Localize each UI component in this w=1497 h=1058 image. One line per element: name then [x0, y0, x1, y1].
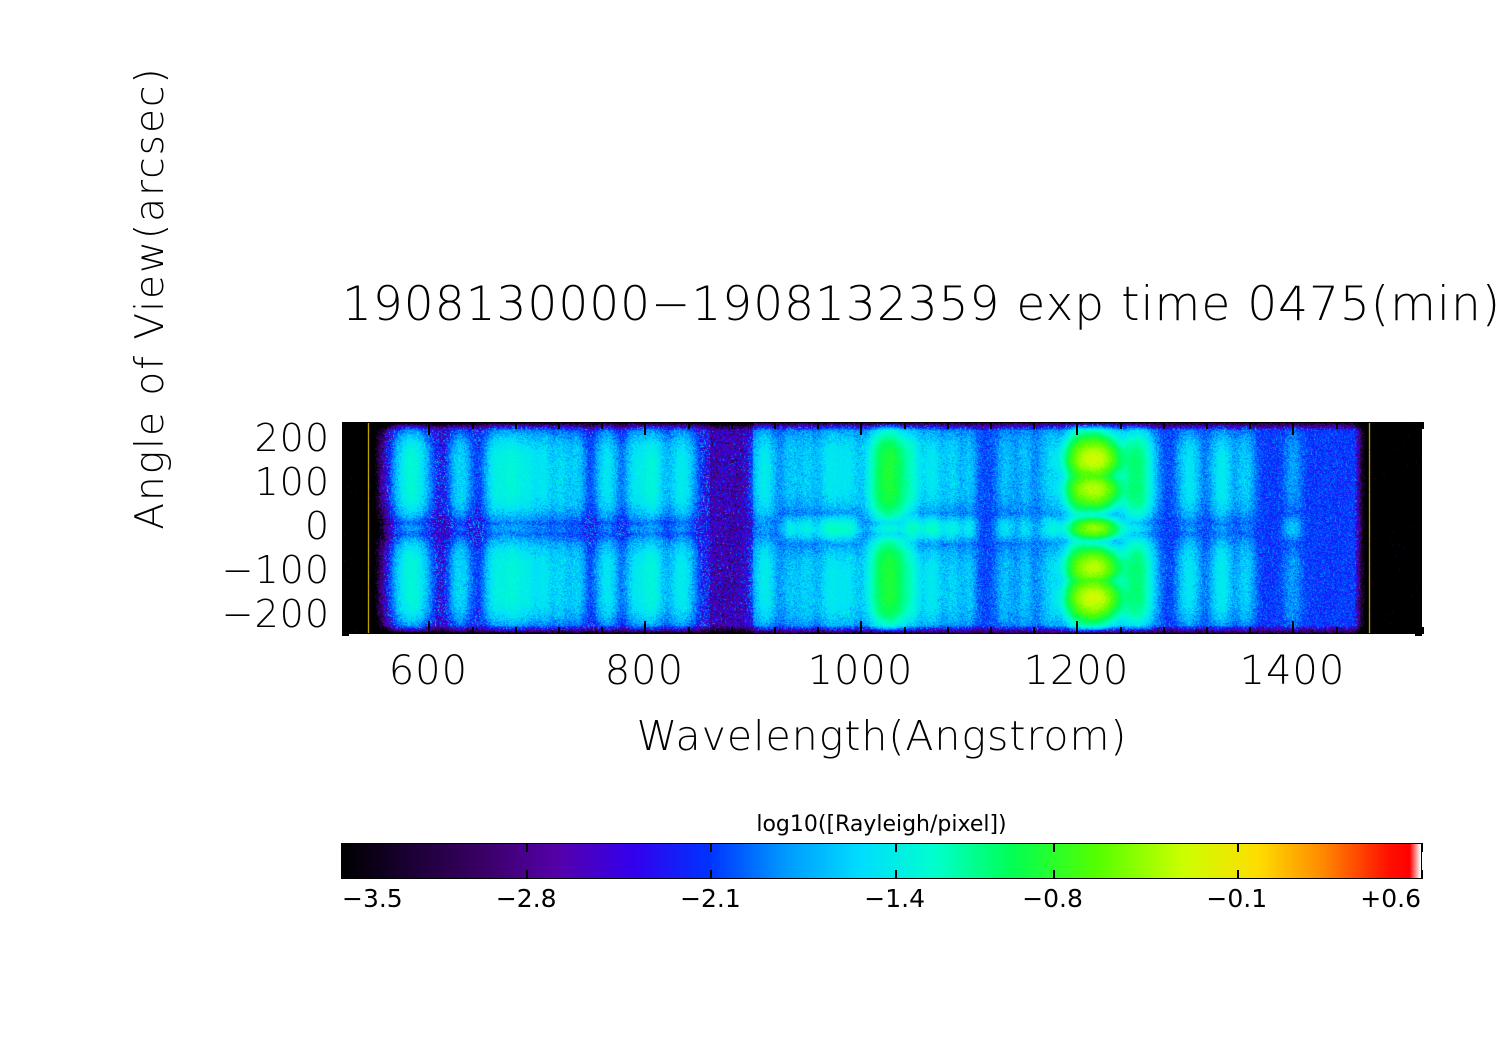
- tick-mark: [1415, 537, 1422, 539]
- tick-mark: [688, 627, 690, 634]
- colorbar-tick-label: −2.1: [680, 884, 741, 913]
- tick-mark: [1409, 484, 1422, 486]
- chart-title: 1908130000−1908132359 exp time 0475(min)…: [342, 280, 1422, 330]
- tick-mark: [1415, 581, 1422, 583]
- y-axis-label: Angle of View(arcsec): [120, 38, 180, 558]
- tick-mark: [1409, 572, 1422, 574]
- tick-mark: [342, 625, 349, 627]
- tick-mark: [1292, 422, 1294, 435]
- tick-mark: [342, 484, 355, 486]
- tick-mark: [817, 422, 819, 429]
- tick-mark: [1249, 627, 1251, 634]
- tick-mark: [342, 634, 349, 636]
- tick-mark: [1415, 431, 1422, 433]
- tick-mark: [1415, 510, 1422, 512]
- tick-mark: [342, 572, 355, 574]
- x-axis-tick-labels: 600800100012001400: [342, 648, 1422, 704]
- tick-mark: [1163, 422, 1165, 429]
- y-tick-label: 0: [190, 504, 330, 548]
- tick-mark: [1415, 555, 1422, 557]
- tick-mark: [1206, 422, 1208, 429]
- tick-mark: [342, 502, 349, 504]
- tick-mark: [1336, 422, 1338, 429]
- tick-mark: [947, 422, 949, 429]
- tick-mark: [342, 627, 344, 634]
- tick-mark: [731, 627, 733, 634]
- tick-mark: [1415, 422, 1422, 424]
- tick-mark: [342, 475, 349, 477]
- y-tick-label: −200: [190, 592, 330, 636]
- tick-mark: [1415, 625, 1422, 627]
- tick-mark: [1336, 627, 1338, 634]
- tick-mark: [1379, 627, 1381, 634]
- x-tick-label: 800: [605, 648, 684, 694]
- tick-mark: [385, 627, 387, 634]
- x-axis-label: Wavelength(Angstrom): [342, 712, 1422, 760]
- y-tick-label: 200: [190, 416, 330, 460]
- tick-mark: [1409, 616, 1422, 618]
- spectrogram-image: [342, 422, 1422, 634]
- colorbar-tick-label: −2.8: [496, 884, 557, 913]
- tick-mark: [1415, 590, 1422, 592]
- colorbar-tick-label: −0.1: [1206, 884, 1267, 913]
- tick-mark: [1292, 621, 1294, 634]
- tick-mark: [1415, 466, 1422, 468]
- tick-mark: [1120, 422, 1122, 429]
- tick-mark: [817, 627, 819, 634]
- tick-mark: [990, 422, 992, 429]
- tick-mark: [1415, 563, 1422, 565]
- tick-mark: [342, 440, 355, 442]
- tick-mark: [1033, 627, 1035, 634]
- tick-mark: [558, 422, 560, 429]
- tick-mark: [342, 510, 349, 512]
- tick-mark: [342, 590, 349, 592]
- tick-mark: [644, 621, 646, 634]
- tick-mark: [1120, 627, 1122, 634]
- colorbar-title: log10([Rayleigh/pixel]): [341, 812, 1422, 837]
- exposure-time-label: exp time 0475(min): [1016, 277, 1497, 332]
- tick-mark: [1422, 627, 1424, 634]
- colorbar-tick-label: −1.4: [864, 884, 925, 913]
- tick-mark: [1415, 519, 1422, 521]
- tick-mark: [644, 422, 646, 435]
- tick-mark: [947, 627, 949, 634]
- tick-mark: [1206, 627, 1208, 634]
- y-tick-label: 100: [190, 460, 330, 504]
- tick-mark: [1415, 449, 1422, 451]
- tick-mark: [904, 627, 906, 634]
- tick-mark: [472, 627, 474, 634]
- tick-mark: [1409, 528, 1422, 530]
- tick-mark: [385, 422, 387, 429]
- tick-mark: [688, 422, 690, 429]
- tick-mark: [601, 422, 603, 429]
- tick-mark: [1415, 475, 1422, 477]
- y-axis-tick-labels: 2001000−100−200: [190, 422, 330, 634]
- tick-mark: [342, 608, 349, 610]
- tick-mark: [342, 555, 349, 557]
- tick-mark: [1033, 422, 1035, 429]
- spectrogram-plot-area: [342, 422, 1422, 634]
- x-tick-label: 1200: [1023, 648, 1129, 694]
- tick-mark: [601, 627, 603, 634]
- y-tick-label: −100: [190, 548, 330, 592]
- tick-mark: [1415, 457, 1422, 459]
- tick-mark: [428, 621, 430, 634]
- tick-mark: [342, 581, 349, 583]
- tick-mark: [990, 627, 992, 634]
- tick-mark: [860, 422, 862, 435]
- tick-mark: [1076, 621, 1078, 634]
- tick-mark: [342, 546, 349, 548]
- tick-mark: [428, 422, 430, 435]
- tick-mark: [342, 422, 349, 424]
- tick-mark: [904, 422, 906, 429]
- tick-mark: [342, 466, 349, 468]
- tick-mark: [342, 616, 355, 618]
- tick-mark: [1415, 608, 1422, 610]
- tick-mark: [342, 449, 349, 451]
- observation-time-range: 1908130000−1908132359: [342, 277, 1000, 332]
- tick-mark: [342, 537, 349, 539]
- tick-mark: [860, 621, 862, 634]
- tick-mark: [731, 422, 733, 429]
- tick-mark: [342, 599, 349, 601]
- tick-mark: [1422, 422, 1424, 429]
- tick-mark: [1415, 634, 1422, 636]
- tick-mark: [342, 519, 349, 521]
- tick-mark: [1249, 422, 1251, 429]
- tick-mark: [342, 431, 349, 433]
- tick-mark: [774, 627, 776, 634]
- tick-mark: [1415, 546, 1422, 548]
- tick-mark: [342, 528, 355, 530]
- tick-mark: [1076, 422, 1078, 435]
- tick-mark: [1415, 502, 1422, 504]
- colorbar-tick-label: −0.8: [1022, 884, 1083, 913]
- colorbar-tick-label: −3.5: [342, 884, 403, 913]
- colorbar-tick-labels: −3.5−2.8−2.1−1.4−0.8−0.1+0.6: [341, 884, 1422, 924]
- tick-mark: [342, 457, 349, 459]
- x-tick-label: 1400: [1239, 648, 1345, 694]
- tick-mark: [1409, 440, 1422, 442]
- tick-mark: [1163, 627, 1165, 634]
- tick-mark: [774, 422, 776, 429]
- x-tick-label: 600: [389, 648, 468, 694]
- tick-mark: [1415, 493, 1422, 495]
- tick-mark: [515, 422, 517, 429]
- x-tick-label: 1000: [807, 648, 913, 694]
- colorbar-gradient: [342, 844, 1421, 878]
- tick-mark: [515, 627, 517, 634]
- tick-mark: [558, 627, 560, 634]
- tick-mark: [472, 422, 474, 429]
- colorbar-tick-label: +0.6: [1360, 884, 1421, 913]
- tick-mark: [342, 563, 349, 565]
- tick-mark: [342, 493, 349, 495]
- tick-mark: [1379, 422, 1381, 429]
- colorbar: [341, 843, 1422, 879]
- tick-mark: [1415, 599, 1422, 601]
